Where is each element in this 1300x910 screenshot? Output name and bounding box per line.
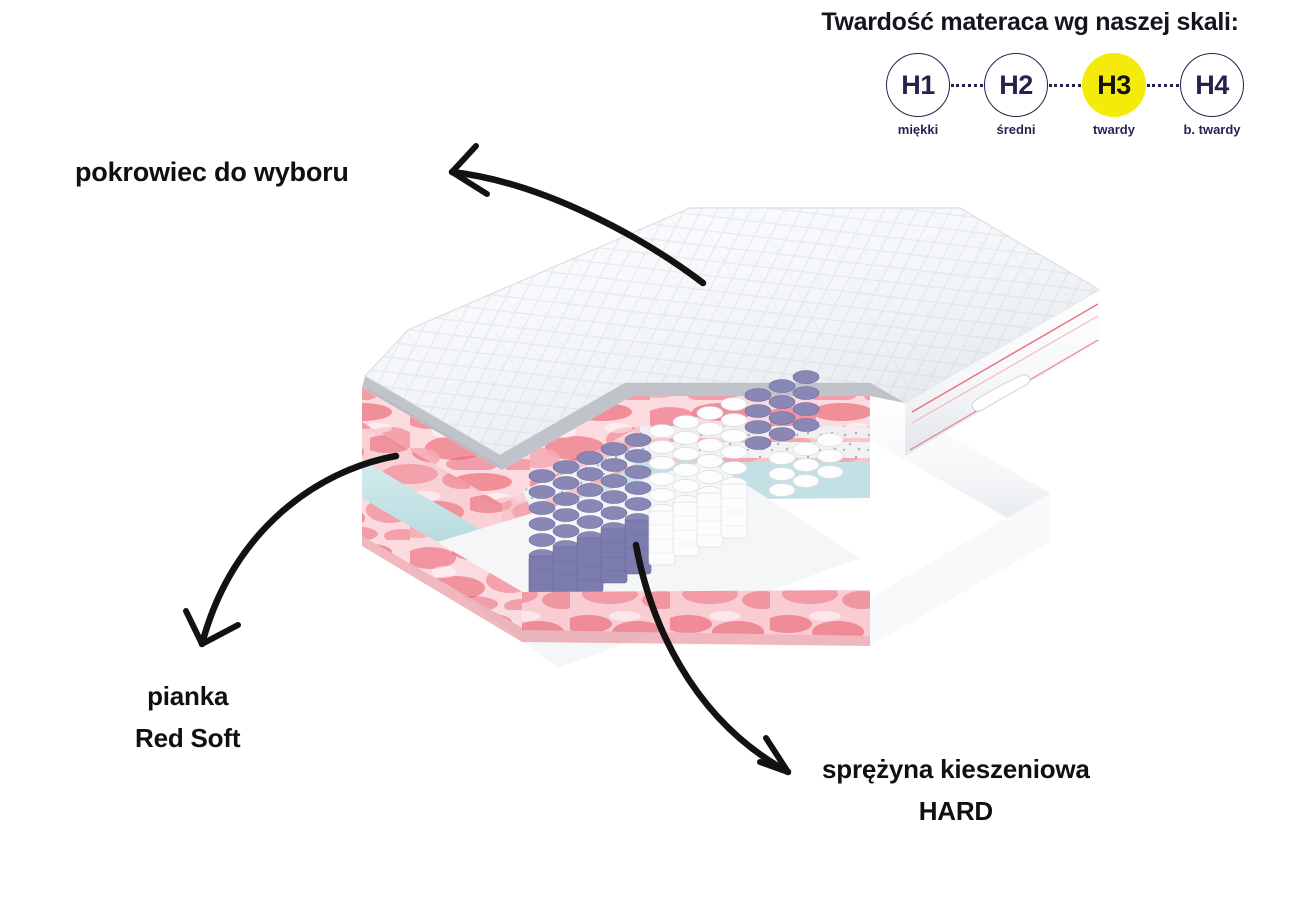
hardness-step-h4[interactable]: H4 b. twardy — [1179, 52, 1245, 118]
hardness-caption-h3: twardy — [1093, 122, 1135, 137]
hardness-step-h3[interactable]: H3 twardy — [1081, 52, 1147, 118]
hardness-circle-h1: H1 — [886, 53, 950, 117]
hardness-step-h1[interactable]: H1 miękki — [885, 52, 951, 118]
scale-connector-3 — [1147, 80, 1179, 90]
scale-connector-1 — [951, 80, 983, 90]
callout-spring-line1: sprężyna kieszeniowa — [822, 748, 1090, 790]
callout-spring: sprężyna kieszeniowa HARD — [822, 748, 1090, 832]
mattress-cutaway-illustration — [170, 190, 1100, 720]
hardness-caption-h1: miękki — [898, 122, 938, 137]
callout-foam-line1: pianka — [135, 675, 240, 717]
callout-spring-line2: HARD — [822, 790, 1090, 832]
callout-foam: pianka Red Soft — [135, 675, 240, 759]
scale-connector-2 — [1049, 80, 1081, 90]
callout-cover: pokrowiec do wyboru — [75, 157, 349, 188]
hardness-scale-steps: H1 miękki H2 średni H3 twardy H4 b. twar… — [885, 52, 1245, 118]
hardness-circle-h2: H2 — [984, 53, 1048, 117]
hardness-caption-h2: średni — [996, 122, 1035, 137]
hardness-caption-h4: b. twardy — [1183, 122, 1240, 137]
mattress-body-right — [870, 390, 1050, 646]
hardness-scale-title: Twardość materaca wg naszej skali: — [770, 8, 1290, 37]
callout-cover-text: pokrowiec do wyboru — [75, 157, 349, 187]
hardness-scale: Twardość materaca wg naszej skali: H1 mi… — [760, 0, 1290, 160]
hardness-circle-h3: H3 — [1082, 53, 1146, 117]
hardness-circle-h4: H4 — [1180, 53, 1244, 117]
callout-foam-line2: Red Soft — [135, 717, 240, 759]
hardness-step-h2[interactable]: H2 średni — [983, 52, 1049, 118]
